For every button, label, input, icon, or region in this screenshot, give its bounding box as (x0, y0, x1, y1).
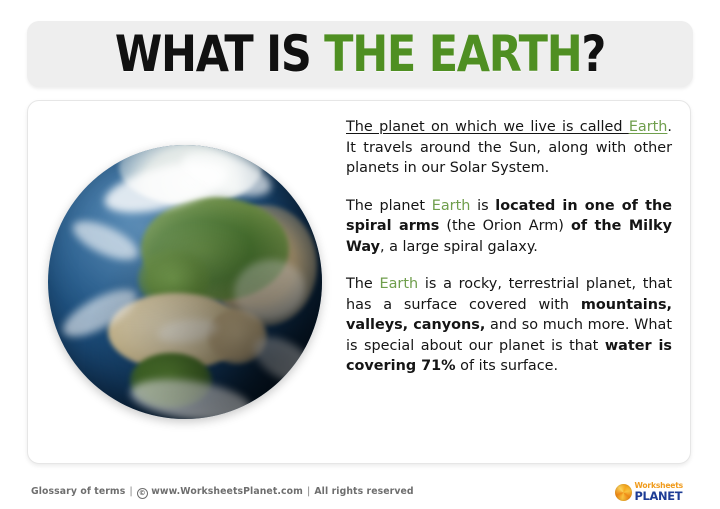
worksheets-planet-logo[interactable]: Worksheets PLANET (615, 482, 684, 502)
header-banner: WHAT IS THE EARTH? (27, 21, 693, 87)
page-title-part1: WHAT IS (115, 25, 324, 83)
copyright-icon: © (137, 488, 148, 499)
footer: Glossary of terms|© www.WorksheetsPlanet… (31, 481, 691, 503)
footer-glossary-label: Glossary of terms (31, 486, 125, 497)
worksheets-planet-sun-icon (615, 484, 632, 501)
text-pane: The planet on which we live is called Ea… (338, 101, 690, 463)
text-run-normal: The (346, 276, 380, 292)
footer-rights-label: All rights reserved (314, 486, 413, 497)
page-title-part2: THE EARTH (324, 25, 581, 83)
text-run-underline: The planet on which we live is called (346, 119, 629, 135)
footer-credit-line: Glossary of terms|© www.WorksheetsPlanet… (31, 486, 414, 499)
footer-website-link[interactable]: www.WorksheetsPlanet.com (151, 486, 303, 497)
text-run-normal: (the Orion Arm) (439, 218, 571, 234)
text-run-green: Earth (380, 276, 419, 292)
page-title-part3: ? (581, 25, 605, 83)
paragraph-1: The planet on which we live is called Ea… (346, 117, 672, 179)
paragraph-3: The Earth is a rocky, terrestrial planet… (346, 274, 672, 377)
paragraph-2: The planet Earth is located in one of th… (346, 196, 672, 258)
content-card: The planet on which we live is called Ea… (27, 100, 691, 464)
earth-globe-image (42, 139, 328, 425)
text-run-normal: , a large spiral galaxy. (380, 239, 538, 255)
text-run-normal: of its surface. (456, 358, 559, 374)
page-title: WHAT IS THE EARTH? (115, 29, 605, 79)
globe-sphere (48, 145, 322, 419)
text-run-normal: The planet (346, 198, 432, 214)
footer-separator: | (307, 486, 311, 497)
illustration-pane (28, 101, 338, 463)
footer-separator: | (129, 486, 133, 497)
text-run-underline-green: Earth (629, 119, 668, 135)
logo-wordmark: Worksheets PLANET (635, 482, 684, 502)
text-run-green: Earth (432, 198, 471, 214)
logo-bottom-text: PLANET (635, 491, 684, 502)
cloud-band (67, 213, 143, 268)
text-run-normal: is (470, 198, 495, 214)
